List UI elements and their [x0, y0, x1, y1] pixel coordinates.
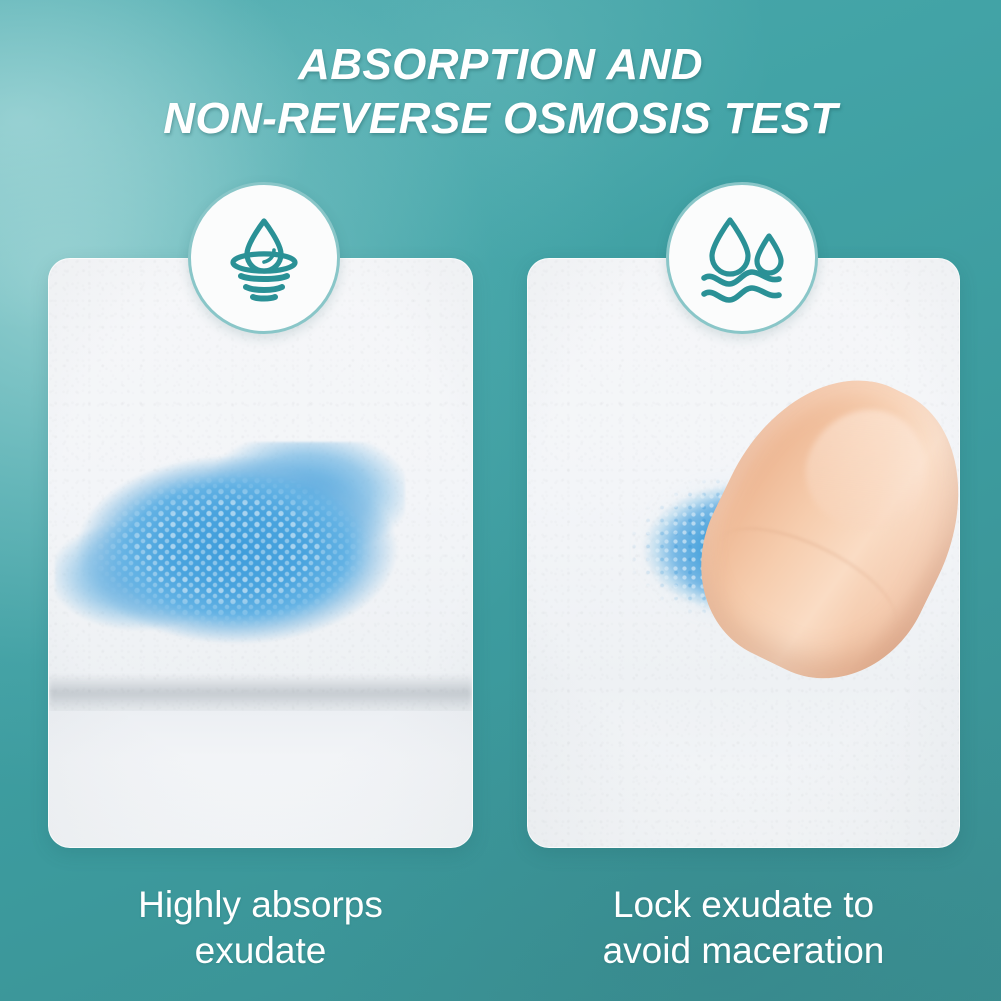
- panel-card-absorption: [48, 258, 473, 848]
- table-surface-area: [49, 711, 472, 847]
- panel-card-non-reverse-osmosis: [527, 258, 960, 848]
- badge-non-reverse-osmosis: [666, 182, 818, 334]
- water-drops-waves-icon: [690, 206, 794, 310]
- water-drop-absorbing-icon: [212, 206, 316, 310]
- stain-embossed-dot-texture: [83, 464, 377, 636]
- badge-absorption: [188, 182, 340, 334]
- exudate-stain: [55, 442, 405, 657]
- non-reverse-osmosis-test-photo: [528, 259, 959, 847]
- caption-non-reverse-osmosis: Lock exudate to avoid maceration: [527, 882, 960, 974]
- page-title: ABSORPTION AND NON-REVERSE OSMOSIS TEST: [0, 38, 1001, 146]
- absorption-test-photo: [49, 259, 472, 847]
- caption-absorption: Highly absorps exudate: [48, 882, 473, 974]
